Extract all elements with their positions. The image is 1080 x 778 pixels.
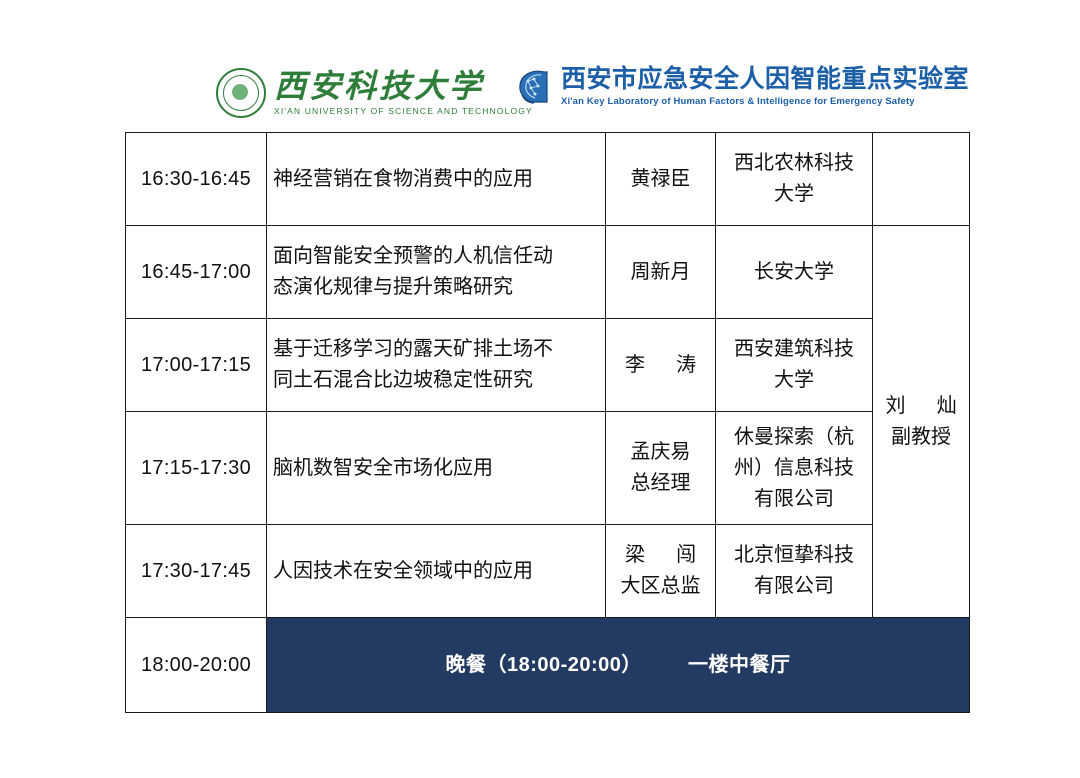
lab-logo-text: 西安市应急安全人因智能重点实验室 Xi'an Key Laboratory of…	[561, 66, 969, 107]
document-header: 西安科技大学 XI'AN UNIVERSITY OF SCIENCE AND T…	[0, 62, 1080, 124]
university-name-cn: 西安科技大学	[274, 70, 533, 104]
university-name-en: XI'AN UNIVERSITY OF SCIENCE AND TECHNOLO…	[274, 106, 533, 116]
speaker-name-char: 李	[625, 354, 645, 376]
session-host-merged: 刘 灿 副教授	[873, 226, 970, 618]
session-topic: 面向智能安全预警的人机信任动 态演化规律与提升策略研究	[267, 226, 606, 319]
organization-line: 休曼探索（杭	[722, 422, 866, 453]
topic-line: 基于迁移学习的露天矿排土场不	[273, 334, 599, 365]
university-seal-icon	[216, 68, 266, 118]
organization-line: 有限公司	[722, 484, 866, 515]
meal-location: 一楼中餐厅	[688, 654, 791, 676]
host-title: 副教授	[879, 422, 963, 453]
meal-banner: 晚餐（18:00-20:00） 一楼中餐厅	[267, 618, 970, 713]
session-time: 16:45-17:00	[126, 226, 267, 319]
session-topic: 人因技术在安全领域中的应用	[267, 525, 606, 618]
topic-line: 态演化规律与提升策略研究	[273, 272, 599, 303]
organization-line: 西北农林科技	[722, 148, 866, 179]
host-name-char: 刘	[885, 395, 905, 417]
organization-line: 大学	[722, 179, 866, 210]
session-speaker: 梁 闯 大区总监	[606, 525, 716, 618]
session-speaker: 黄禄臣	[606, 133, 716, 226]
organization-line: 西安建筑科技	[722, 334, 866, 365]
speaker-title: 总经理	[612, 468, 709, 499]
university-logo-text: 西安科技大学 XI'AN UNIVERSITY OF SCIENCE AND T…	[274, 70, 533, 116]
organization-line: 有限公司	[722, 571, 866, 602]
table-row: 17:00-17:15 基于迁移学习的露天矿排土场不 同土石混合比边坡稳定性研究…	[126, 319, 970, 412]
table-row: 17:30-17:45 人因技术在安全领域中的应用 梁 闯 大区总监 北京恒挚科…	[126, 525, 970, 618]
session-topic: 神经营销在食物消费中的应用	[267, 133, 606, 226]
host-name-char: 灿	[937, 395, 957, 417]
organization-line: 州）信息科技	[722, 453, 866, 484]
topic-line: 面向智能安全预警的人机信任动	[273, 241, 599, 272]
organization-line: 北京恒挚科技	[722, 540, 866, 571]
topic-line: 同土石混合比边坡稳定性研究	[273, 365, 599, 396]
session-time: 17:30-17:45	[126, 525, 267, 618]
table-row: 16:30-16:45 神经营销在食物消费中的应用 黄禄臣 西北农林科技 大学	[126, 133, 970, 226]
speaker-name: 梁 闯	[612, 540, 709, 571]
session-topic: 脑机数智安全市场化应用	[267, 412, 606, 525]
session-time: 16:30-16:45	[126, 133, 267, 226]
brain-circuit-icon	[514, 66, 554, 106]
speaker-name-char: 梁	[625, 544, 645, 566]
session-speaker: 李 涛	[606, 319, 716, 412]
schedule-table: 16:30-16:45 神经营销在食物消费中的应用 黄禄臣 西北农林科技 大学 …	[125, 132, 970, 713]
lab-name-en: Xi'an Key Laboratory of Human Factors & …	[561, 96, 969, 107]
speaker-name-char: 闯	[676, 544, 696, 566]
table-row: 16:45-17:00 面向智能安全预警的人机信任动 态演化规律与提升策略研究 …	[126, 226, 970, 319]
session-organization: 长安大学	[716, 226, 873, 319]
meal-row: 18:00-20:00 晚餐（18:00-20:00） 一楼中餐厅	[126, 618, 970, 713]
session-organization: 西安建筑科技 大学	[716, 319, 873, 412]
session-host-empty	[873, 133, 970, 226]
session-organization: 北京恒挚科技 有限公司	[716, 525, 873, 618]
lab-logo: 西安市应急安全人因智能重点实验室 Xi'an Key Laboratory of…	[514, 66, 969, 107]
speaker-name-char: 涛	[676, 354, 696, 376]
speaker-title: 大区总监	[612, 571, 709, 602]
session-speaker: 孟庆易 总经理	[606, 412, 716, 525]
session-time: 17:00-17:15	[126, 319, 267, 412]
session-organization: 休曼探索（杭 州）信息科技 有限公司	[716, 412, 873, 525]
organization-line: 大学	[722, 365, 866, 396]
schedule-table-container: 16:30-16:45 神经营销在食物消费中的应用 黄禄臣 西北农林科技 大学 …	[125, 132, 969, 713]
lab-name-cn: 西安市应急安全人因智能重点实验室	[561, 66, 969, 94]
meal-time: 18:00-20:00	[126, 618, 267, 713]
speaker-name: 孟庆易	[612, 437, 709, 468]
host-name: 刘 灿	[879, 391, 963, 422]
meal-label: 晚餐（18:00-20:00）	[445, 654, 641, 676]
session-organization: 西北农林科技 大学	[716, 133, 873, 226]
session-time: 17:15-17:30	[126, 412, 267, 525]
table-row: 17:15-17:30 脑机数智安全市场化应用 孟庆易 总经理 休曼探索（杭 州…	[126, 412, 970, 525]
university-logo: 西安科技大学 XI'AN UNIVERSITY OF SCIENCE AND T…	[216, 68, 533, 118]
session-speaker: 周新月	[606, 226, 716, 319]
session-topic: 基于迁移学习的露天矿排土场不 同土石混合比边坡稳定性研究	[267, 319, 606, 412]
